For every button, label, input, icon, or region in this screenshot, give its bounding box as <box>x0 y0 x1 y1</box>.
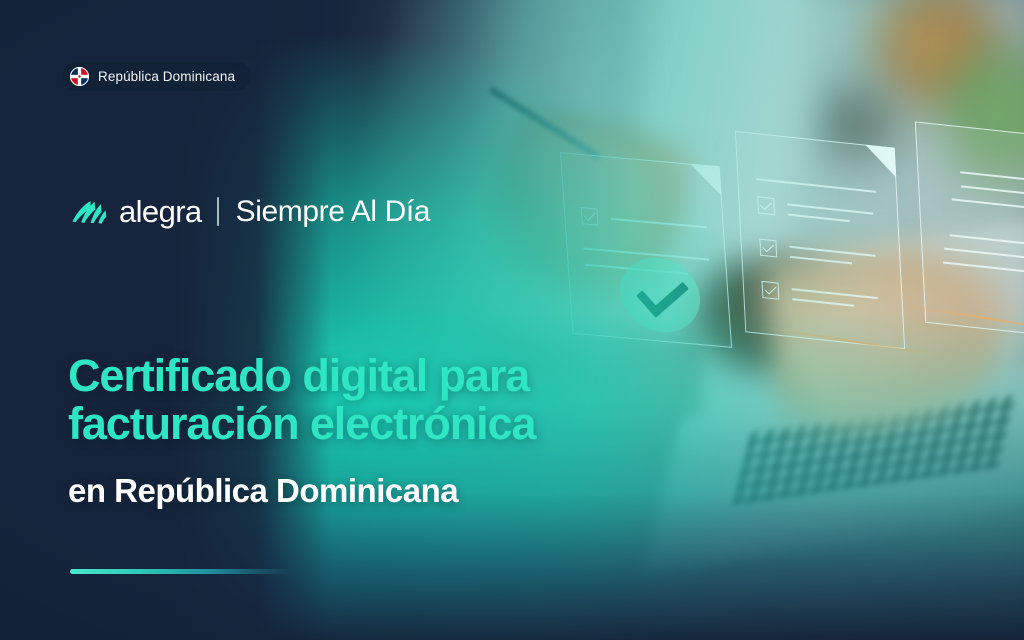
brand-logo-lockup[interactable]: alegra Siempre Al Día <box>70 196 430 227</box>
accent-rule <box>70 569 290 574</box>
alegra-fan-logo-icon <box>70 197 108 227</box>
content-layer: República Dominicana alegra Siempre Al D… <box>0 0 1024 640</box>
country-badge[interactable]: República Dominicana <box>62 62 251 91</box>
headline-line-1: Certificado digital para <box>68 352 708 400</box>
logo-tagline: Siempre Al Día <box>236 197 430 227</box>
headline-line-2: facturación electrónica <box>68 400 708 448</box>
logo-divider <box>217 197 219 226</box>
page-title: Certificado digital para facturación ele… <box>68 352 708 447</box>
alegra-wordmark: alegra <box>119 196 202 227</box>
dominican-republic-flag-icon <box>70 67 89 86</box>
banner-root: República Dominicana alegra Siempre Al D… <box>0 0 1024 640</box>
country-badge-label: República Dominicana <box>98 69 235 84</box>
page-subtitle: en República Dominicana <box>68 473 458 509</box>
